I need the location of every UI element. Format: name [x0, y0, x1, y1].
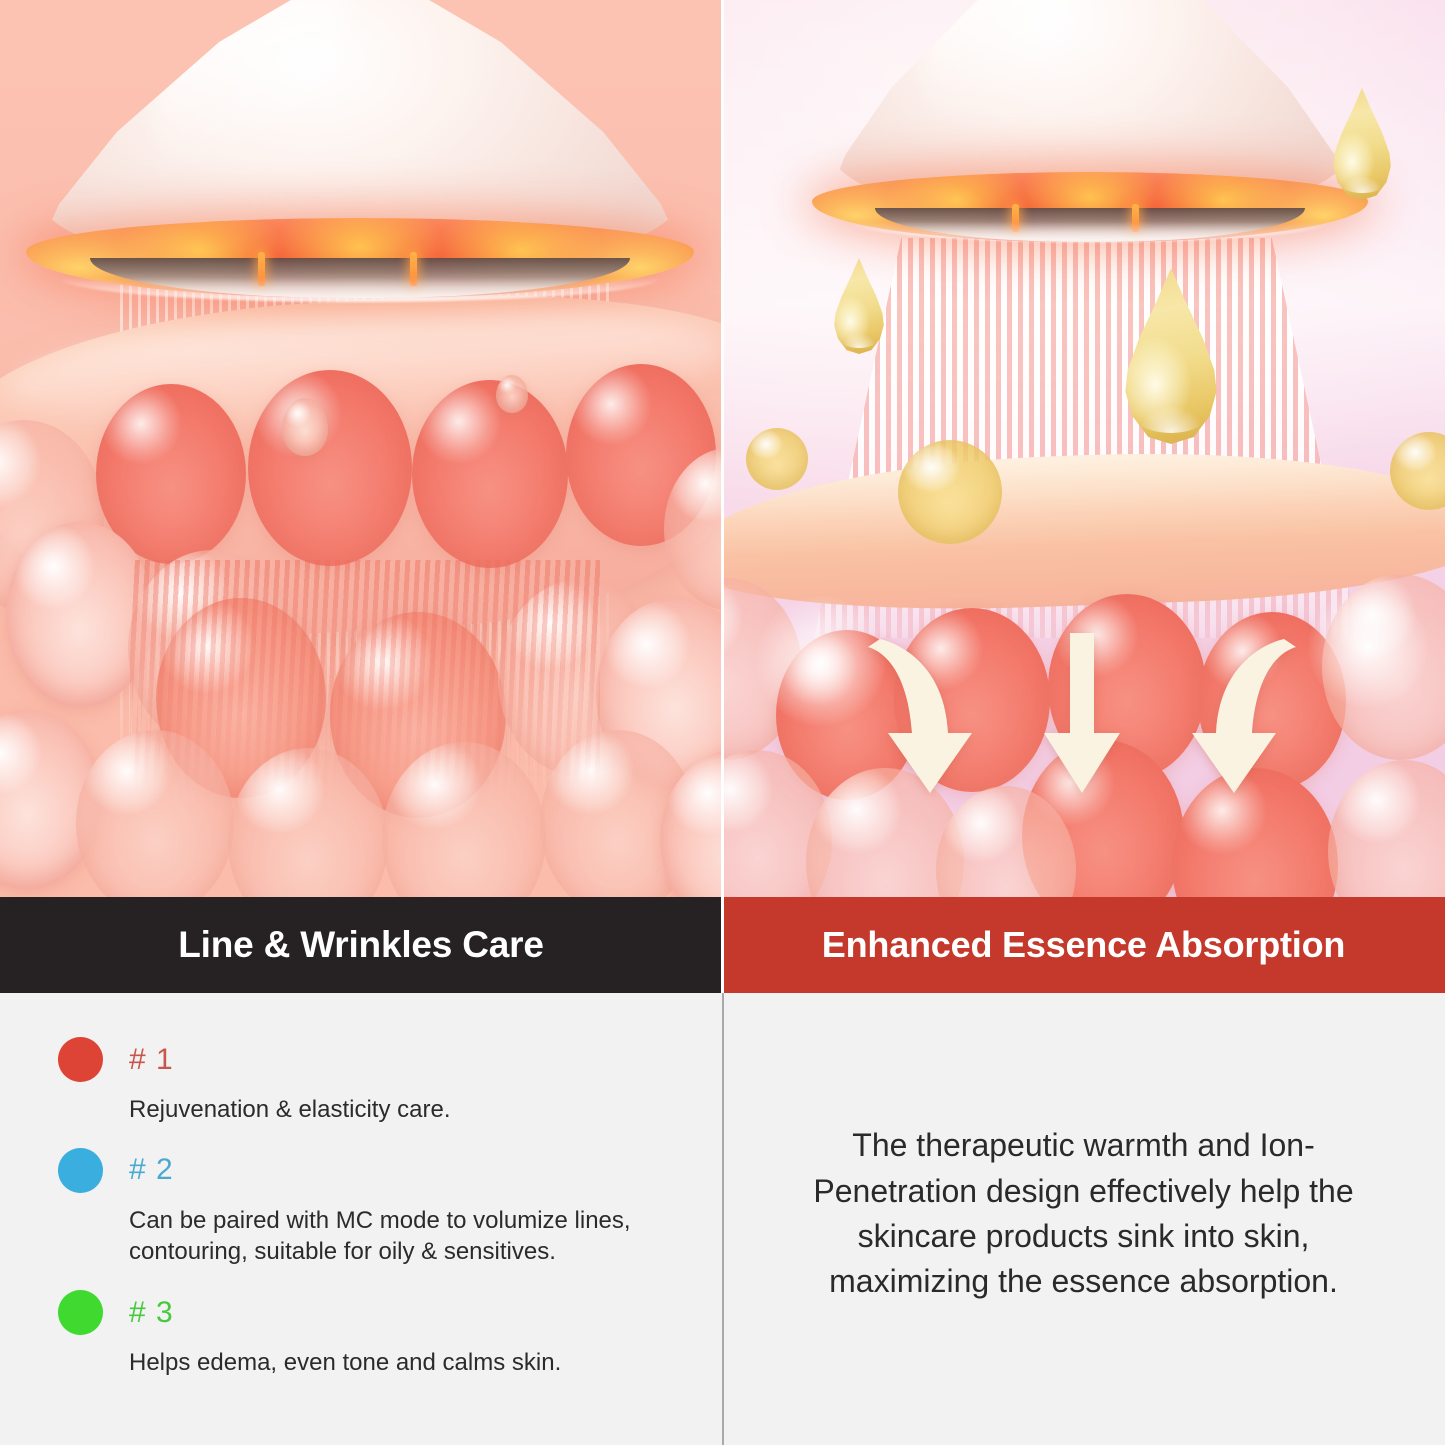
bottom-content: # 1 Rejuvenation & elasticity care. # 2 …	[0, 993, 1445, 1445]
description-column: The therapeutic warmth and Ion-Penetrati…	[722, 993, 1445, 1445]
feature-description: Can be paired with MC mode to volumize l…	[129, 1205, 682, 1268]
panel-divider	[721, 0, 724, 897]
led-device-right	[790, 0, 1390, 246]
arrow-right	[1192, 639, 1296, 793]
feature-description: Helps edema, even tone and calms skin.	[129, 1347, 682, 1379]
feature-list: # 1 Rejuvenation & elasticity care. # 2 …	[0, 993, 722, 1445]
feature-description: Rejuvenation & elasticity care.	[129, 1094, 682, 1126]
content-divider	[722, 993, 724, 1445]
water-droplet	[282, 398, 328, 456]
left-image-panel	[0, 0, 722, 897]
feature-item-2: # 2 Can be paired with MC mode to volumi…	[58, 1148, 682, 1268]
arrow-left	[868, 639, 972, 793]
oil-bubble	[746, 428, 808, 490]
bullet-dot-blue	[58, 1148, 103, 1193]
banner-divider	[721, 897, 724, 993]
absorption-paragraph: The therapeutic warmth and Ion-Penetrati…	[784, 1123, 1384, 1305]
bullet-dot-red	[58, 1037, 103, 1082]
collagen-sphere	[1328, 760, 1445, 897]
product-infographic: Line & Wrinkles Care Enhanced Essence Ab…	[0, 0, 1445, 1445]
right-image-panel	[722, 0, 1445, 897]
feature-header: # 3	[58, 1290, 682, 1335]
collagen-spheres-left	[0, 430, 722, 897]
feature-item-3: # 3 Helps edema, even tone and calms ski…	[58, 1290, 682, 1379]
device-bottom-edge	[60, 278, 660, 302]
collagen-sphere	[412, 380, 568, 568]
banner-left: Line & Wrinkles Care	[0, 897, 722, 993]
feature-header: # 2	[58, 1148, 682, 1193]
absorption-arrows	[862, 625, 1302, 825]
water-droplet	[496, 375, 528, 413]
banner-right: Enhanced Essence Absorption	[722, 897, 1445, 993]
banner-right-title: Enhanced Essence Absorption	[822, 924, 1345, 966]
bullet-dot-green	[58, 1290, 103, 1335]
feature-item-1: # 1 Rejuvenation & elasticity care.	[58, 1037, 682, 1126]
banner-left-title: Line & Wrinkles Care	[178, 924, 543, 966]
hero-imagery	[0, 0, 1445, 897]
arrow-center	[1044, 633, 1120, 793]
oil-bubble	[898, 440, 1002, 544]
banner-row: Line & Wrinkles Care Enhanced Essence Ab…	[0, 897, 1445, 993]
feature-number: # 2	[129, 1153, 174, 1187]
device-bottom-edge	[850, 222, 1330, 242]
feature-number: # 3	[129, 1296, 174, 1330]
feature-number: # 1	[129, 1043, 174, 1077]
feature-header: # 1	[58, 1037, 682, 1082]
led-device-left	[0, 0, 722, 312]
collagen-sphere	[248, 370, 412, 566]
